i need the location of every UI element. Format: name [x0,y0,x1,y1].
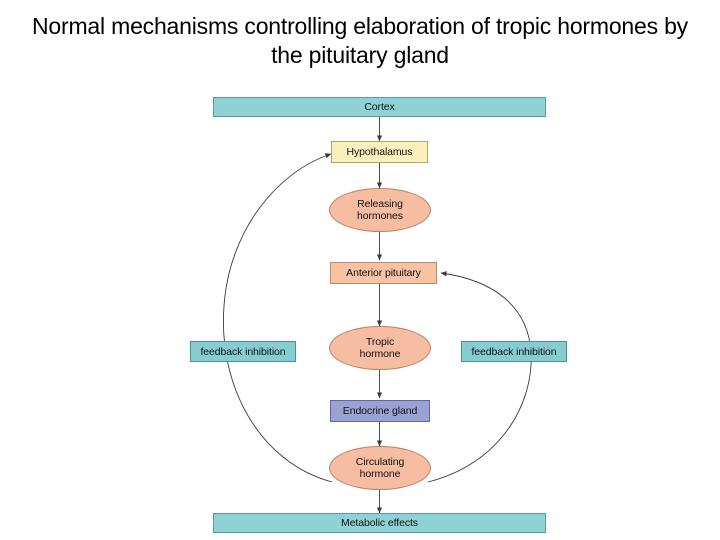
page-title: Normal mechanisms controlling elaboratio… [18,12,702,70]
edge-feedback-right [428,273,531,482]
node-endocrine-gland[interactable]: Endocrine gland [330,400,430,422]
node-tropic-hormone-label-line2: hormone [356,348,405,360]
node-hypothalamus-label: Hypothalamus [343,146,417,158]
node-releasing-hormones-label-line2: hormones [353,210,407,222]
node-cortex[interactable]: Cortex [213,97,546,117]
node-feedback-inhibition-left-label: feedback inhibition [196,346,289,358]
node-circulating-hormone-label-line1: Circulating [352,456,409,468]
node-circulating-hormone-label-line2: hormone [356,468,405,480]
flowchart-diagram: Cortex Hypothalamus Releasing hormones A… [0,84,720,540]
node-feedback-inhibition-right[interactable]: feedback inhibition [461,341,567,362]
node-metabolic-effects[interactable]: Metabolic effects [213,513,546,533]
node-hypothalamus[interactable]: Hypothalamus [331,141,428,163]
node-feedback-inhibition-left[interactable]: feedback inhibition [190,341,296,362]
node-cortex-label: Cortex [360,101,398,113]
node-endocrine-gland-label: Endocrine gland [339,405,421,417]
node-anterior-pituitary-label: Anterior pituitary [342,267,425,279]
node-releasing-hormones-label-line1: Releasing [353,198,407,210]
node-anterior-pituitary[interactable]: Anterior pituitary [330,262,437,284]
node-tropic-hormone-label-line1: Tropic [362,336,398,348]
node-circulating-hormone[interactable]: Circulating hormone [329,446,431,490]
node-metabolic-effects-label: Metabolic effects [337,517,422,529]
node-tropic-hormone[interactable]: Tropic hormone [329,326,431,370]
node-feedback-inhibition-right-label: feedback inhibition [467,346,560,358]
node-releasing-hormones[interactable]: Releasing hormones [329,188,431,232]
edge-feedback-left [223,154,332,482]
